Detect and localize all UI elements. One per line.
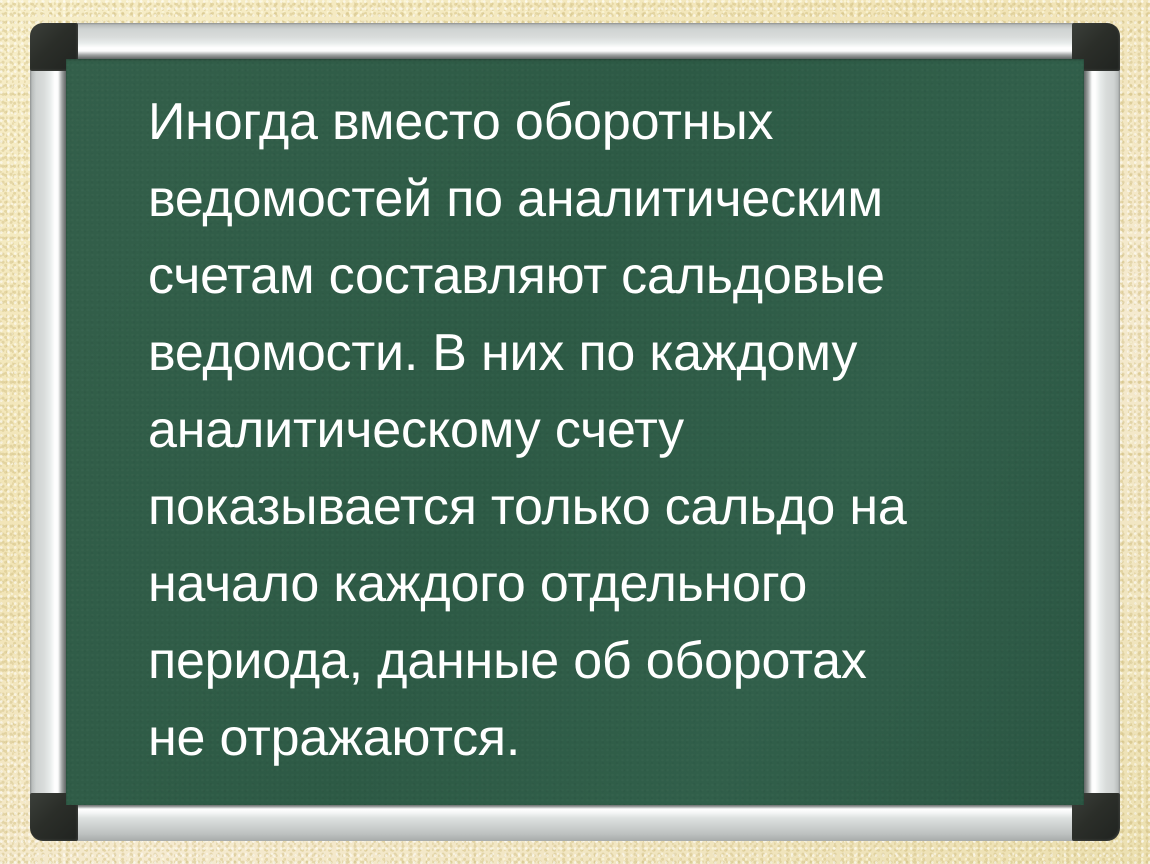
chalkboard-surface: Иногда вместо оборотных ведомостей по ан… [66, 59, 1084, 805]
frame-rail-right [1083, 47, 1120, 817]
presentation-slide: Иногда вместо оборотных ведомостей по ан… [0, 0, 1150, 864]
board-text-line: показывается только сальдо на [148, 469, 1066, 546]
board-text-line: ведомостей по аналитическим [148, 161, 1066, 238]
board-text-line: не отражаются. [148, 700, 1066, 777]
frame-rail-bottom [54, 804, 1096, 841]
board-text-line: счетам составляют сальдовые [148, 238, 1066, 315]
board-text-block: Иногда вместо оборотных ведомостей по ан… [148, 84, 1066, 777]
board-text-line: ведомости. В них по каждому [148, 315, 1066, 392]
board-text-line: начало каждого отдельного [148, 546, 1066, 623]
frame-rail-left [30, 47, 67, 817]
board-text-line: аналитическому счету [148, 392, 1066, 469]
chalkboard-frame: Иногда вместо оборотных ведомостей по ан… [30, 23, 1120, 841]
board-text-line: периода, данные об оборотах [148, 623, 1066, 700]
board-text-line: Иногда вместо оборотных [148, 84, 1066, 161]
frame-rail-top [54, 23, 1096, 60]
